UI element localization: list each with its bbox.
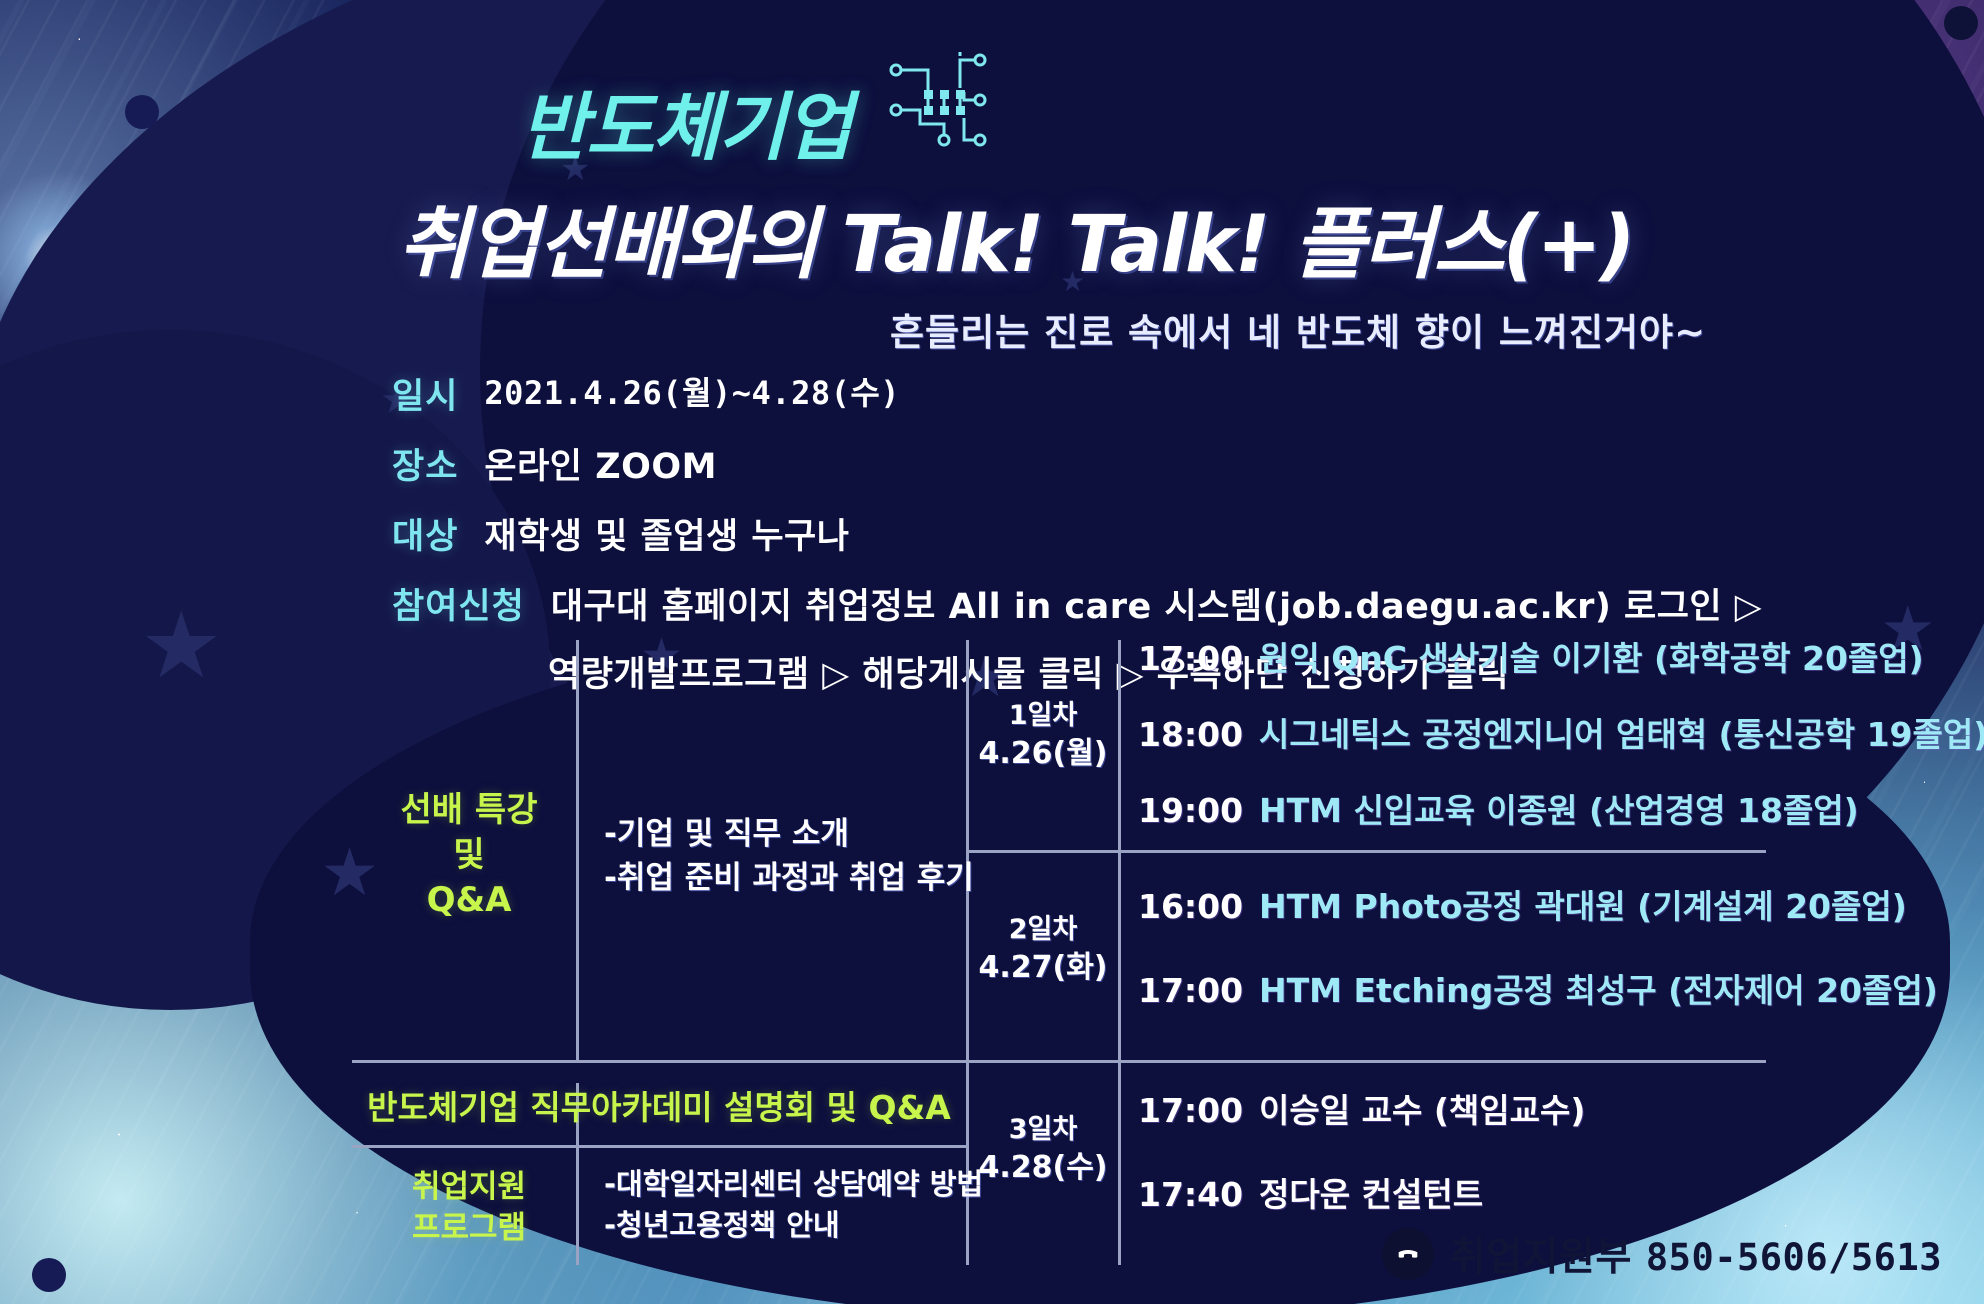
info-row-place: 장소 온라인 ZOOM [392,438,1692,489]
info-value: 2021.4.26(월)~4.28(수) [484,368,900,414]
poster-root: ★ ★ ★ ★ ★ ★ ★ ★ 반도체기업 [0,0,1984,1304]
footer-text: 취업지원부 850-5606/5613 [1450,1226,1942,1282]
session-text: 시그네틱스 공정엔지니어 엄태혁 (통신공학 19졸업) [1259,715,1984,754]
info-value: 대구대 홈페이지 취업정보 All in care 시스템(job.daegu.… [551,578,1762,629]
session-text: 정다운 컨설턴트 [1259,1175,1483,1214]
phone-icon [1382,1228,1434,1280]
session-time: 17:40 [1138,1175,1243,1214]
info-row-date: 일시 2021.4.26(월)~4.28(수) [392,368,1692,419]
poster-title: 취업선배와의 Talk! Talk! 플러스(+) [398,182,1634,294]
session-time: 19:00 [1138,791,1243,830]
circuit-board-icon [886,48,990,156]
session-text: 원익 QnC 생산기술 이기환 (화학공학 20졸업) [1259,639,1924,678]
session-text: HTM Etching공정 최성구 (전자제어 20졸업) [1259,971,1938,1010]
session-row: 18:00시그네틱스 공정엔지니어 엄태혁 (통신공학 19졸업) [366,708,1984,756]
session-row: 17:00원익 QnC 생산기술 이기환 (화학공학 20졸업) [366,632,1924,680]
info-row-audience: 대상 재학생 및 졸업생 누구나 [392,508,1692,559]
info-label: 대상 [392,508,458,559]
session-text: HTM 신입교육 이종원 (산업경영 18졸업) [1259,791,1859,830]
info-row-apply: 참여신청 대구대 홈페이지 취업정보 All in care 시스템(job.d… [392,578,1692,629]
info-label: 참여신청 [392,578,525,629]
session-time: 17:00 [1138,1091,1243,1130]
session-row: 16:00HTM Photo공정 곽대원 (기계설계 20졸업) [366,880,1907,928]
table-divider-horizontal [966,850,1766,853]
schedule-table: 선배 특강 및 Q&A -기업 및 직무 소개 -취업 준비 과정과 취업 후기… [366,640,1766,1145]
session-time: 17:00 [1138,639,1243,678]
session-row: 17:00이승일 교수 (책임교수) [366,1084,1585,1132]
session-row: 17:00HTM Etching공정 최성구 (전자제어 20졸업) [366,964,1938,1012]
poster-kicker: 반도체기업 [520,68,850,175]
session-row: 17:40정다운 컨설턴트 [366,1168,1483,1216]
info-label: 장소 [392,438,458,489]
session-text: HTM Photo공정 곽대원 (기계설계 20졸업) [1259,887,1907,926]
footer-phone-number: 850-5606/5613 [1646,1236,1942,1279]
table-divider-horizontal [352,1145,966,1148]
info-label: 일시 [392,368,458,419]
session-time: 17:00 [1138,971,1243,1010]
info-value: 재학생 및 졸업생 누구나 [484,508,849,559]
footer-contact: 취업지원부 850-5606/5613 [1382,1226,1942,1282]
session-time: 18:00 [1138,715,1243,754]
session-row: 19:00HTM 신입교육 이종원 (산업경영 18졸업) [366,784,1859,832]
session-time: 16:00 [1138,887,1243,926]
poster-tagline: 흔들리는 진로 속에서 네 반도체 향이 느껴진거야~ [890,302,1706,356]
footer-dept: 취업지원부 [1450,1235,1632,1280]
info-value: 온라인 ZOOM [484,438,717,489]
table-divider-horizontal [352,1060,1766,1063]
session-text: 이승일 교수 (책임교수) [1259,1091,1585,1130]
